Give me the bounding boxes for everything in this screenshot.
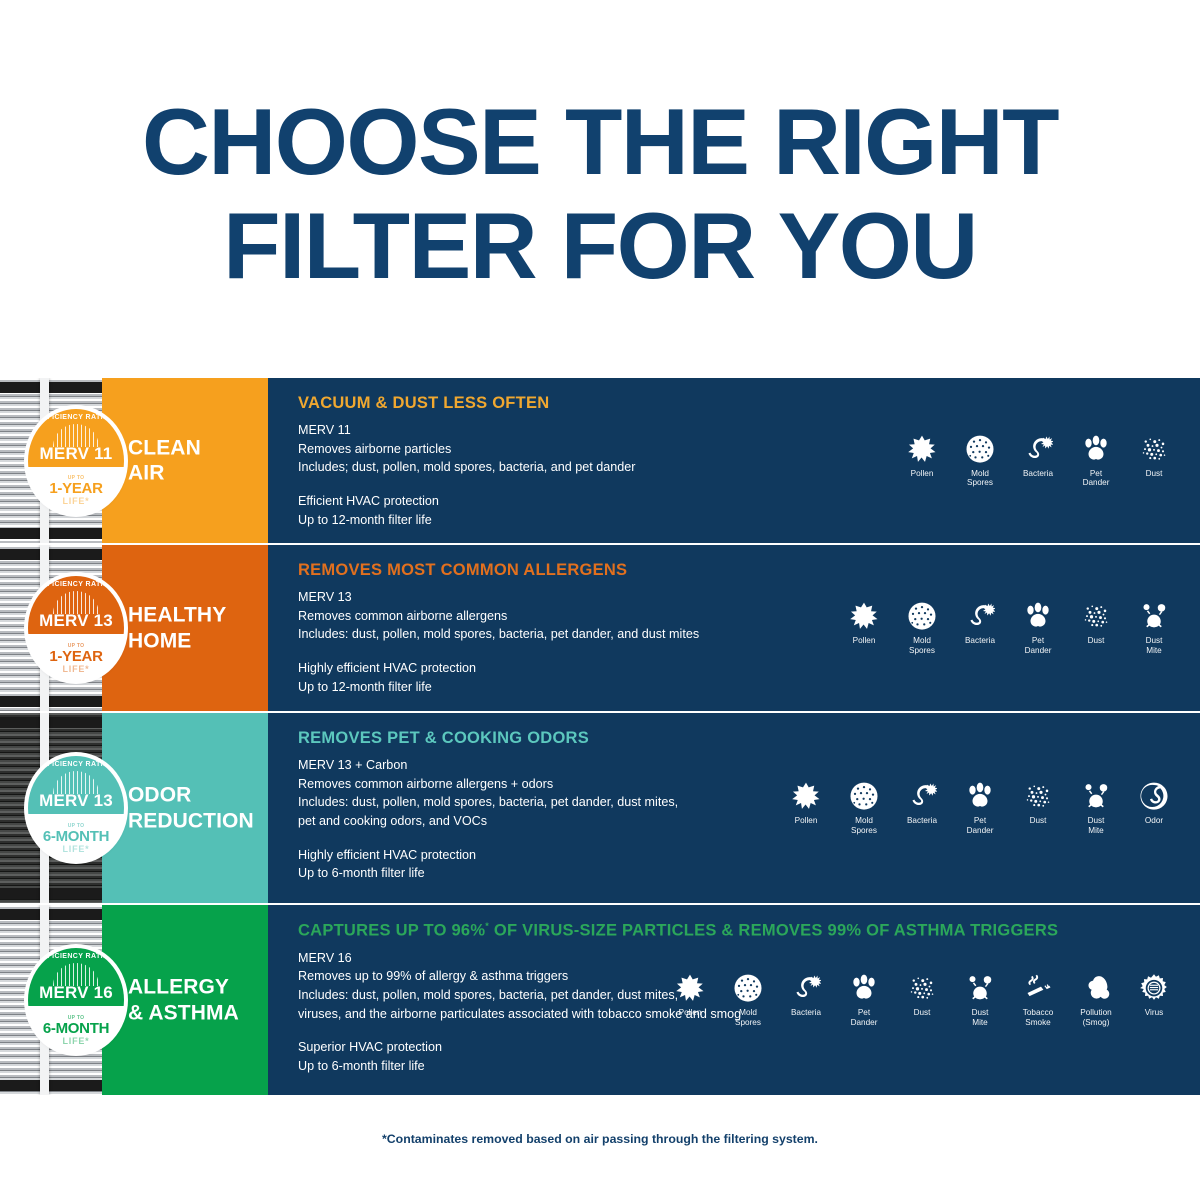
bacteria-icon (956, 601, 1004, 631)
pet-dander-icon (956, 781, 1004, 811)
bacteria-icon (898, 781, 946, 811)
detail-line-secondary: Superior HVAC protection (298, 1038, 1184, 1057)
badge-efficiency-label: EFFICIENCY RATING (28, 953, 124, 960)
badge-life-word: LIFE* (62, 496, 89, 506)
badge-life-value: 1-YEAR (49, 480, 102, 497)
contaminant-item: Mold Spores (898, 601, 946, 655)
contaminant-label: Pet Dander (840, 1008, 888, 1027)
pollen-icon (840, 601, 888, 631)
contaminant-item: Dust (898, 973, 946, 1027)
contaminant-item: Pollen (840, 601, 888, 655)
pollution-smog-icon (1072, 973, 1120, 1003)
badge-merv-value: MERV 11 (40, 444, 113, 464)
contaminant-label: Bacteria (782, 1008, 830, 1017)
filter-frame-top (0, 549, 102, 560)
contaminant-icon-strip: PollenMold SporesBacteriaPet DanderDustD… (840, 601, 1178, 655)
efficiency-rating-badge: EFFICIENCY RATING MERV 16 UP TO 6-MONTH … (28, 948, 124, 1052)
dust-mite-icon (1072, 781, 1120, 811)
filter-frame-bottom (0, 696, 102, 707)
badge-life-word: LIFE* (62, 664, 89, 674)
contaminant-label: Bacteria (898, 816, 946, 825)
filter-frame-bottom (0, 1080, 102, 1091)
contaminant-item: Bacteria (898, 781, 946, 835)
filter-category-cell: EFFICIENCY RATING MERV 11 UP TO 1-YEAR L… (0, 378, 268, 543)
mold-spores-icon (956, 434, 1004, 464)
page-title-line-2: FILTER FOR YOU (0, 200, 1200, 292)
filter-frame-bottom (0, 888, 102, 899)
contaminant-item: Dust (1130, 434, 1178, 488)
contaminant-item: Pet Dander (1072, 434, 1120, 488)
detail-line-secondary: Up to 12-month filter life (298, 678, 1184, 697)
filter-category-cell: EFFICIENCY RATING MERV 16 UP TO 6-MONTH … (0, 905, 268, 1095)
contaminant-icon-strip: PollenMold SporesBacteriaPet DanderDustD… (782, 781, 1178, 835)
contaminant-label: Bacteria (956, 636, 1004, 645)
filter-frame-top (0, 382, 102, 393)
badge-upto-label: UP TO (68, 475, 85, 481)
efficiency-rating-badge: EFFICIENCY RATING MERV 13 UP TO 6-MONTH … (28, 756, 124, 860)
filter-details-cell: REMOVES MOST COMMON ALLERGENSMERV 13Remo… (268, 545, 1200, 711)
odor-icon (1130, 781, 1178, 811)
badge-efficiency-label: EFFICIENCY RATING (28, 761, 124, 768)
contaminant-icon-strip: PollenMold SporesBacteriaPet DanderDust (898, 434, 1178, 488)
badge-life-value: 1-YEAR (49, 648, 102, 665)
contaminant-label: Odor (1130, 816, 1178, 825)
contaminant-item: Dust (1072, 601, 1120, 655)
pet-dander-icon (1014, 601, 1062, 631)
mold-spores-icon (840, 781, 888, 811)
dust-mite-icon (1130, 601, 1178, 631)
contaminant-label: Dust (1130, 469, 1178, 478)
contaminant-label: Pollution (Smog) (1072, 1008, 1120, 1027)
filter-details-cell: REMOVES PET & COOKING ODORSMERV 13 + Car… (268, 713, 1200, 903)
tobacco-smoke-icon (1014, 973, 1062, 1003)
category-title: CLEAN AIR (128, 435, 201, 486)
detail-line-secondary: Highly efficient HVAC protection (298, 846, 1184, 865)
mold-spores-icon (898, 601, 946, 631)
contaminant-label: Pollen (782, 816, 830, 825)
pet-dander-icon (840, 973, 888, 1003)
contaminant-label: Bacteria (1014, 469, 1062, 478)
contaminant-item: Dust Mite (956, 973, 1004, 1027)
badge-upto-label: UP TO (68, 643, 85, 649)
page-title-line-1: CHOOSE THE RIGHT (0, 96, 1200, 188)
pollen-icon (666, 973, 714, 1003)
contaminant-item: Virus (1130, 973, 1178, 1027)
badge-life-word: LIFE* (62, 1036, 89, 1046)
contaminant-icon-strip: PollenMold SporesBacteriaPet DanderDustD… (666, 973, 1178, 1027)
detail-heading: REMOVES MOST COMMON ALLERGENS (298, 561, 1184, 580)
filter-category-cell: EFFICIENCY RATING MERV 13 UP TO 6-MONTH … (0, 713, 268, 903)
bacteria-icon (1014, 434, 1062, 464)
badge-upto-label: UP TO (68, 1015, 85, 1021)
contaminant-label: Dust Mite (1130, 636, 1178, 655)
badge-life-value: 6-MONTH (43, 828, 109, 845)
filter-row[interactable]: EFFICIENCY RATING MERV 13 UP TO 1-YEAR L… (0, 543, 1200, 711)
detail-heading: CAPTURES UP TO 96%* OF VIRUS-SIZE PARTIC… (298, 921, 1184, 941)
contaminant-label: Pet Dander (956, 816, 1004, 835)
contaminant-item: Dust (1014, 781, 1062, 835)
contaminant-item: Dust Mite (1130, 601, 1178, 655)
category-title: HEALTHY HOME (128, 603, 226, 654)
contaminant-label: Dust (1072, 636, 1120, 645)
dust-icon (1130, 434, 1178, 464)
contaminant-item: Bacteria (782, 973, 830, 1027)
dust-icon (898, 973, 946, 1003)
badge-upto-label: UP TO (68, 823, 85, 829)
filter-comparison-table: EFFICIENCY RATING MERV 11 UP TO 1-YEAR L… (0, 378, 1200, 1095)
contaminant-item: Pet Dander (1014, 601, 1062, 655)
badge-life-word: LIFE* (62, 844, 89, 854)
contaminant-label: Virus (1130, 1008, 1178, 1017)
contaminant-label: Mold Spores (898, 636, 946, 655)
footnote: *Contaminates removed based on air passi… (0, 1132, 1200, 1146)
detail-line-secondary: Efficient HVAC protection (298, 492, 1184, 511)
contaminant-label: Tobacco Smoke (1014, 1008, 1062, 1027)
detail-line-secondary: Up to 6-month filter life (298, 864, 1184, 883)
contaminant-label: Pet Dander (1072, 469, 1120, 488)
contaminant-label: Pollen (898, 469, 946, 478)
contaminant-item: Pollen (898, 434, 946, 488)
filter-row[interactable]: EFFICIENCY RATING MERV 11 UP TO 1-YEAR L… (0, 378, 1200, 543)
contaminant-item: Tobacco Smoke (1014, 973, 1062, 1027)
contaminant-item: Mold Spores (840, 781, 888, 835)
contaminant-item: Pet Dander (956, 781, 1004, 835)
badge-efficiency-label: EFFICIENCY RATING (28, 414, 124, 421)
filter-frame-bottom (0, 528, 102, 539)
filter-row[interactable]: EFFICIENCY RATING MERV 16 UP TO 6-MONTH … (0, 903, 1200, 1095)
filter-frame-top (0, 717, 102, 728)
detail-heading: REMOVES PET & COOKING ODORS (298, 729, 1184, 748)
contaminant-label: Dust (1014, 816, 1062, 825)
pollen-icon (782, 781, 830, 811)
contaminant-item: Bacteria (1014, 434, 1062, 488)
badge-merv-value: MERV 13 (39, 611, 113, 631)
detail-line: MERV 16 (298, 949, 1184, 968)
contaminant-label: Pollen (840, 636, 888, 645)
contaminant-label: Pet Dander (1014, 636, 1062, 655)
filter-frame-top (0, 909, 102, 920)
category-title: ODOR REDUCTION (128, 783, 254, 834)
contaminant-item: Mold Spores (724, 973, 772, 1027)
badge-merv-value: MERV 13 (39, 791, 113, 811)
dust-mite-icon (956, 973, 1004, 1003)
contaminant-label: Mold Spores (724, 1008, 772, 1027)
contaminant-item: Dust Mite (1072, 781, 1120, 835)
contaminant-label: Dust Mite (1072, 816, 1120, 835)
contaminant-item: Odor (1130, 781, 1178, 835)
detail-heading: VACUUM & DUST LESS OFTEN (298, 394, 1184, 413)
infographic-page: CHOOSE THE RIGHT FILTER FOR YOU EFFICIEN… (0, 0, 1200, 1200)
pollen-icon (898, 434, 946, 464)
contaminant-label: Mold Spores (840, 816, 888, 835)
contaminant-item: Pet Dander (840, 973, 888, 1027)
filter-details-cell: VACUUM & DUST LESS OFTENMERV 11Removes a… (268, 378, 1200, 543)
dust-icon (1072, 601, 1120, 631)
badge-efficiency-label: EFFICIENCY RATING (28, 581, 124, 588)
contaminant-label: Dust Mite (956, 1008, 1004, 1027)
detail-line: MERV 13 + Carbon (298, 756, 1184, 775)
page-title: CHOOSE THE RIGHT FILTER FOR YOU (0, 96, 1200, 292)
filter-category-cell: EFFICIENCY RATING MERV 13 UP TO 1-YEAR L… (0, 545, 268, 711)
mold-spores-icon (724, 973, 772, 1003)
detail-line-secondary: Up to 12-month filter life (298, 511, 1184, 530)
contaminant-label: Pollen (666, 1008, 714, 1017)
contaminant-item: Pollen (782, 781, 830, 835)
detail-line-secondary: Highly efficient HVAC protection (298, 659, 1184, 678)
dust-icon (1014, 781, 1062, 811)
filter-row[interactable]: EFFICIENCY RATING MERV 13 UP TO 6-MONTH … (0, 711, 1200, 903)
filter-details-cell: CAPTURES UP TO 96%* OF VIRUS-SIZE PARTIC… (268, 905, 1200, 1095)
efficiency-rating-badge: EFFICIENCY RATING MERV 11 UP TO 1-YEAR L… (28, 409, 124, 513)
contaminant-item: Pollen (666, 973, 714, 1027)
efficiency-rating-badge: EFFICIENCY RATING MERV 13 UP TO 1-YEAR L… (28, 576, 124, 680)
bacteria-icon (782, 973, 830, 1003)
detail-line-secondary: Up to 6-month filter life (298, 1057, 1184, 1076)
contaminant-label: Dust (898, 1008, 946, 1017)
pet-dander-icon (1072, 434, 1120, 464)
contaminant-item: Mold Spores (956, 434, 1004, 488)
contaminant-item: Bacteria (956, 601, 1004, 655)
badge-merv-value: MERV 16 (39, 983, 113, 1003)
contaminant-label: Mold Spores (956, 469, 1004, 488)
category-title: ALLERGY & ASTHMA (128, 975, 239, 1026)
virus-icon (1130, 973, 1178, 1003)
contaminant-item: Pollution (Smog) (1072, 973, 1120, 1027)
badge-life-value: 6-MONTH (43, 1020, 109, 1037)
